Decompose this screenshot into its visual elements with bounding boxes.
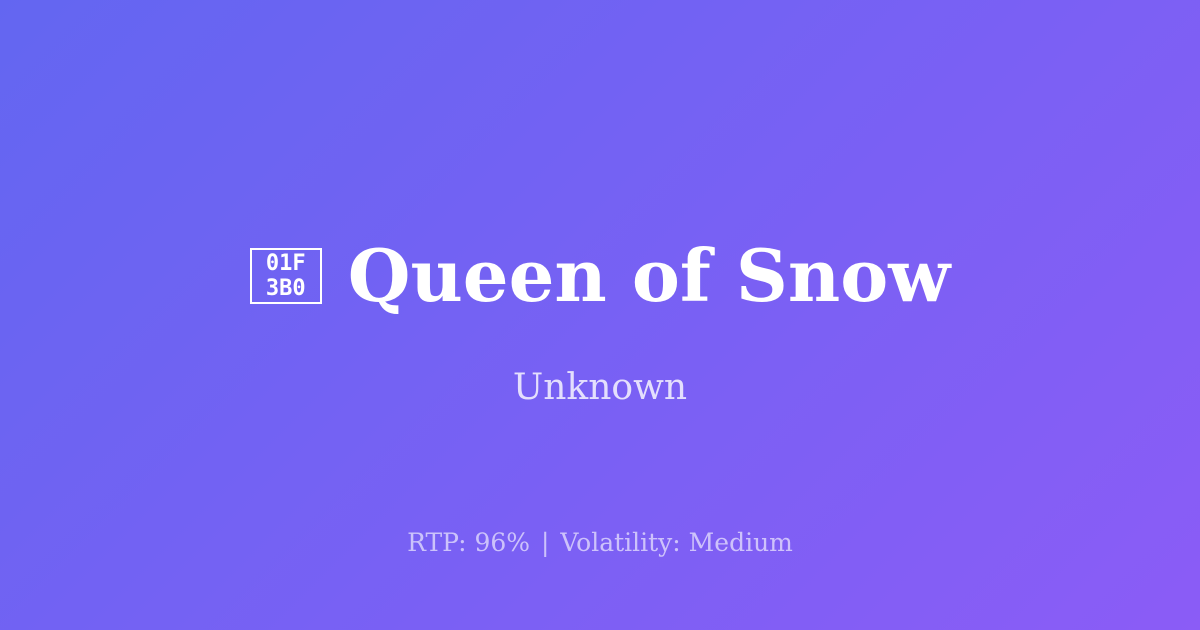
page-title: Queen of Snow: [348, 233, 951, 319]
slot-machine-emoji-icon: 01F 3B0: [250, 248, 322, 304]
tofu-hex-top: 01F: [266, 251, 306, 276]
rtp-value: RTP: 96%: [407, 528, 530, 557]
provider-label: Unknown: [0, 366, 1200, 410]
title-row: 01F 3B0 Queen of Snow: [0, 231, 1200, 321]
meta-separator: |: [538, 528, 552, 557]
volatility-value: Volatility: Medium: [560, 528, 792, 557]
game-meta-line: RTP: 96% | Volatility: Medium: [0, 528, 1200, 558]
game-share-card: 01F 3B0 Queen of Snow Unknown RTP: 96% |…: [0, 0, 1200, 630]
tofu-hex-bottom: 3B0: [266, 276, 306, 301]
